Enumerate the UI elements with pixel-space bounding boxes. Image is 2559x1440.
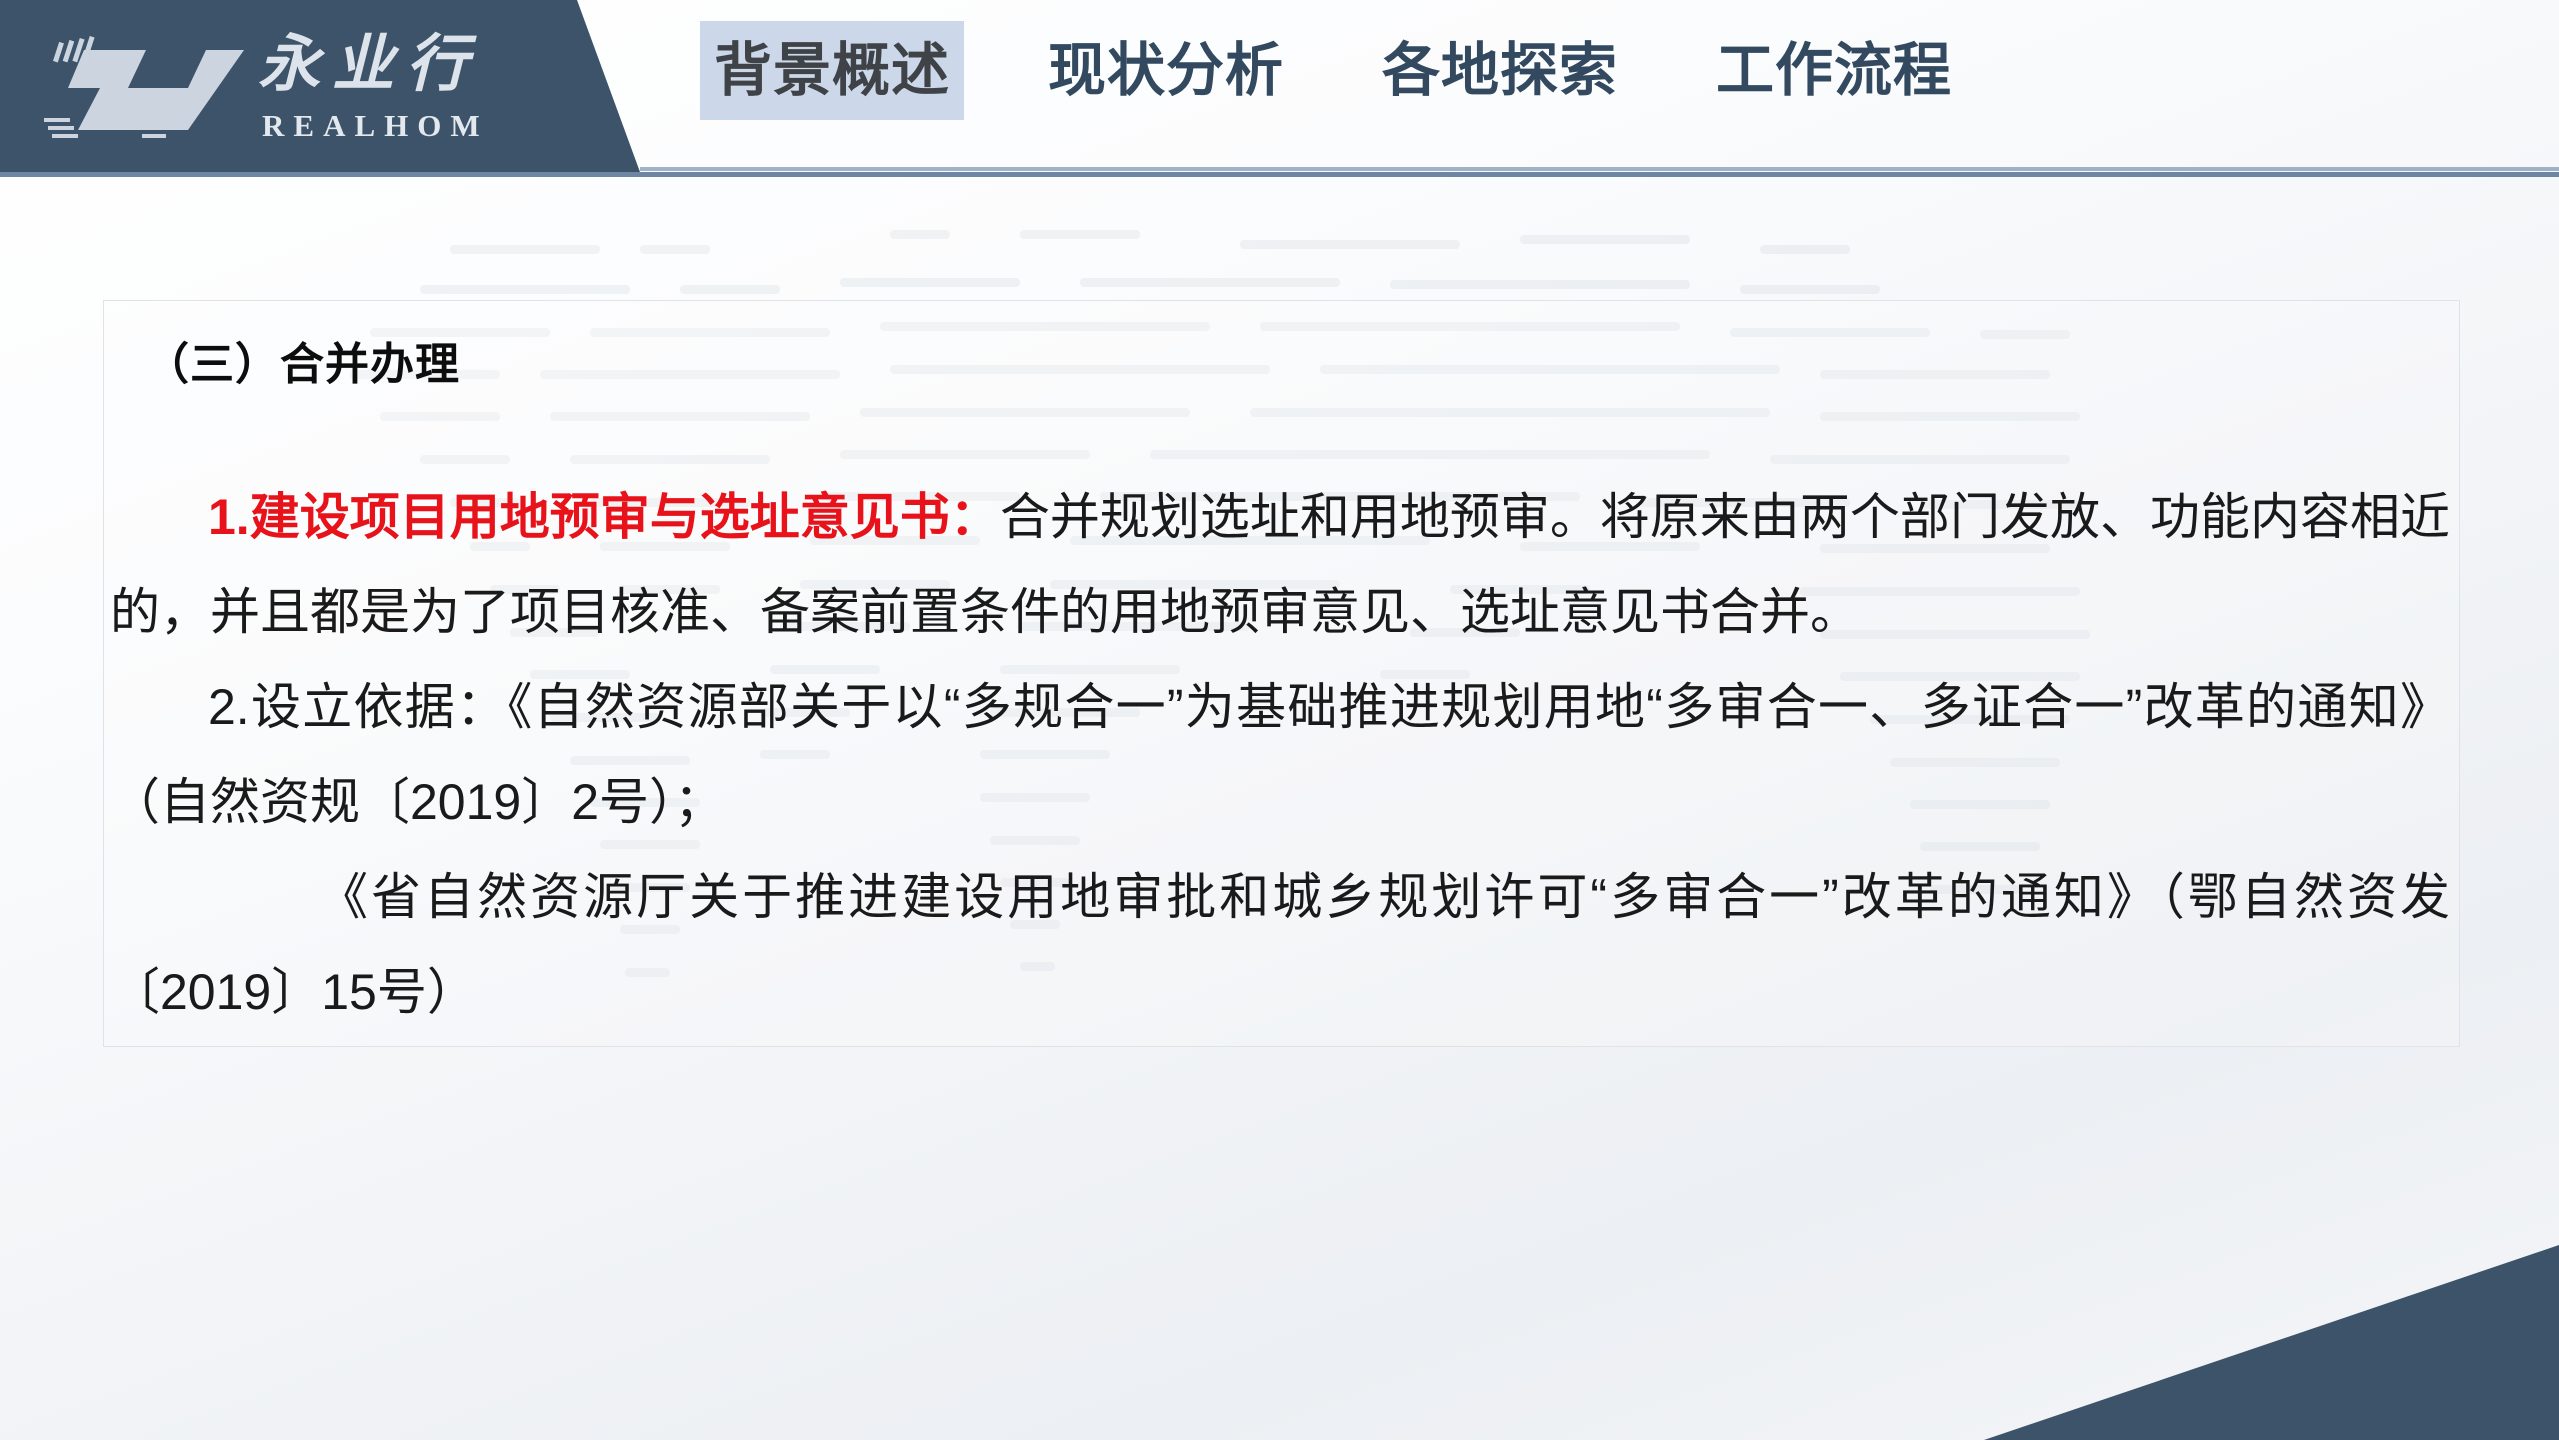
corner-triangle-decoration bbox=[1984, 1245, 2559, 1440]
paragraph-3-rest: 《省自然资源厅关于推进建设用地审批和城乡规划许可“多审合一”改革的通知》（鄂自然… bbox=[110, 869, 2450, 1020]
tab-background-overview[interactable]: 背景概述 bbox=[700, 21, 964, 120]
paragraph-2-rest: 2.设立依据：《自然资源部关于以“多规合一”为基础推进规划用地“多审合一、多证合… bbox=[110, 679, 2450, 830]
tab-work-process[interactable]: 工作流程 bbox=[1702, 21, 1966, 120]
header-rule-soft bbox=[640, 167, 2559, 171]
page-title: （三）合并办理 bbox=[145, 328, 460, 392]
section-nav[interactable]: 背景概述 现状分析 各地探索 工作流程 bbox=[700, 18, 1966, 123]
paragraph-3: 《省自然资源厅关于推进建设用地审批和城乡规划许可“多审合一”改革的通知》（鄂自然… bbox=[110, 850, 2450, 1040]
slide-header: 永业行 REALHOM 背景概述 现状分析 各地探索 工作流程 bbox=[0, 0, 2559, 175]
paragraph-1-lead: 1.建设项目用地预审与选址意见书： bbox=[208, 489, 1000, 545]
paragraph-1: 1.建设项目用地预审与选址意见书：合并规划选址和用地预审。将原来由两个部门发放、… bbox=[110, 470, 2450, 660]
realhom-h-logo-icon bbox=[38, 26, 258, 146]
header-rule bbox=[0, 172, 2559, 177]
paragraph-2: 2.设立依据：《自然资源部关于以“多规合一”为基础推进规划用地“多审合一、多证合… bbox=[110, 660, 2450, 850]
brand-chinese-name: 永业行 bbox=[258, 22, 568, 108]
slide-canvas: 永业行 REALHOM 背景概述 现状分析 各地探索 工作流程 （三）合并办理 … bbox=[0, 0, 2559, 1440]
brand-panel: 永业行 REALHOM bbox=[0, 0, 640, 172]
brand-english-name: REALHOM bbox=[262, 108, 489, 144]
tab-current-status-analysis[interactable]: 现状分析 bbox=[1034, 21, 1298, 120]
tab-regional-exploration[interactable]: 各地探索 bbox=[1368, 21, 1632, 120]
body-text: 1.建设项目用地预审与选址意见书：合并规划选址和用地预审。将原来由两个部门发放、… bbox=[110, 470, 2450, 1040]
